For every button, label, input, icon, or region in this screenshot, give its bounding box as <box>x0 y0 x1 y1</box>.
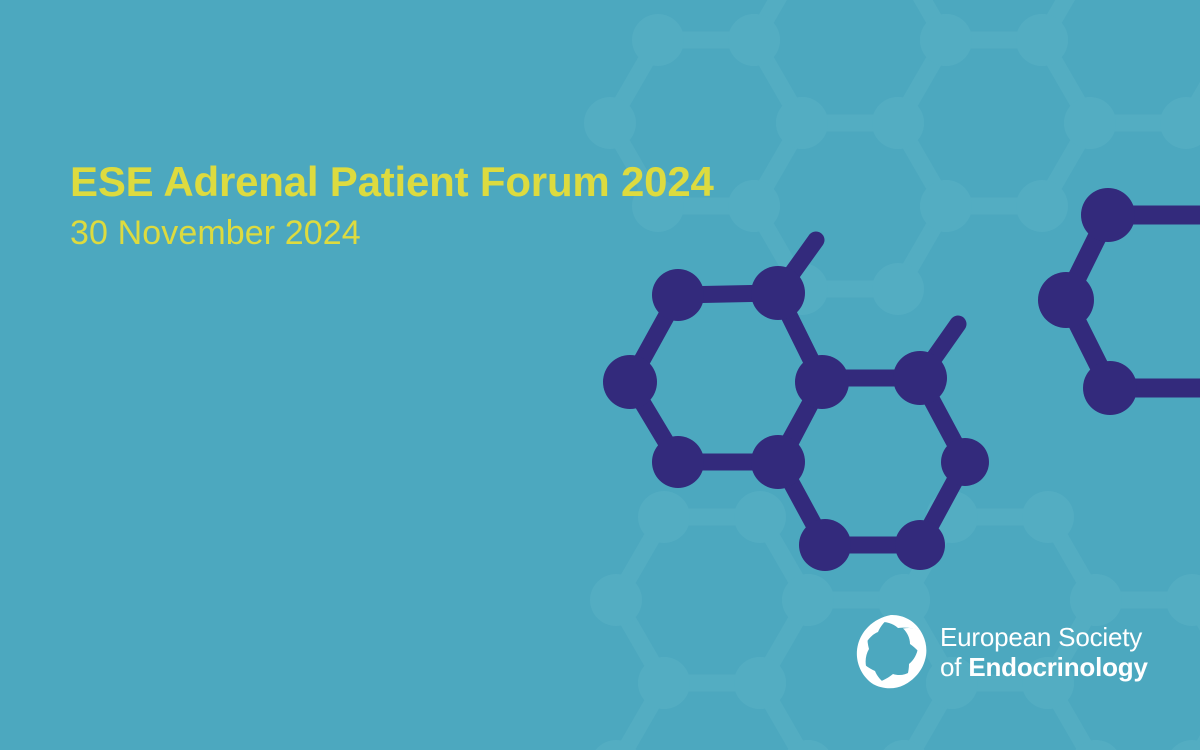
partial-hexagon-molecule <box>1038 188 1200 415</box>
ese-wordmark-endocrinology: Endocrinology <box>968 652 1147 682</box>
page-title: ESE Adrenal Patient Forum 2024 <box>70 160 714 205</box>
ese-wordmark: European Society of Endocrinology <box>940 624 1148 680</box>
title-block: ESE Adrenal Patient Forum 2024 30 Novemb… <box>70 160 714 252</box>
ese-wordmark-line-2: of Endocrinology <box>940 654 1148 680</box>
event-banner: ESE Adrenal Patient Forum 2024 30 Novemb… <box>0 0 1200 750</box>
ese-wordmark-of: of <box>940 652 968 682</box>
ese-hexagon-iris-logo-icon <box>856 612 928 692</box>
ese-logo: European Society of Endocrinology <box>856 612 1148 692</box>
ese-wordmark-line-1: European Society <box>940 624 1148 650</box>
event-date: 30 November 2024 <box>70 216 714 252</box>
fused-hexagon-molecule <box>603 240 989 571</box>
